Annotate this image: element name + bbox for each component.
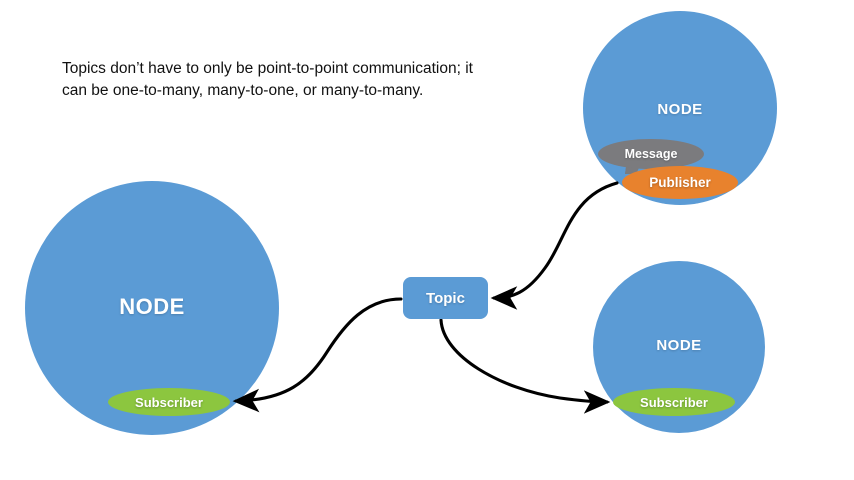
caption-text: Topics don’t have to only be point-to-po… — [62, 58, 482, 103]
node-label-top-right: NODE — [630, 101, 730, 118]
node-label-bottom-right: NODE — [629, 337, 729, 354]
publisher-ellipse[interactable]: Publisher — [622, 166, 738, 199]
node-label-left: NODE — [82, 294, 222, 320]
arrow-topic-to-subscriber-bottom-right — [441, 320, 607, 402]
diagram-canvas: Topics don’t have to only be point-to-po… — [0, 0, 854, 480]
topic-box[interactable]: Topic — [403, 277, 488, 319]
message-bubble[interactable]: Message — [598, 139, 704, 169]
subscriber-ellipse-bottom-right[interactable]: Subscriber — [613, 388, 735, 416]
subscriber-ellipse-left[interactable]: Subscriber — [108, 388, 230, 416]
arrow-publisher-to-topic — [494, 183, 617, 298]
